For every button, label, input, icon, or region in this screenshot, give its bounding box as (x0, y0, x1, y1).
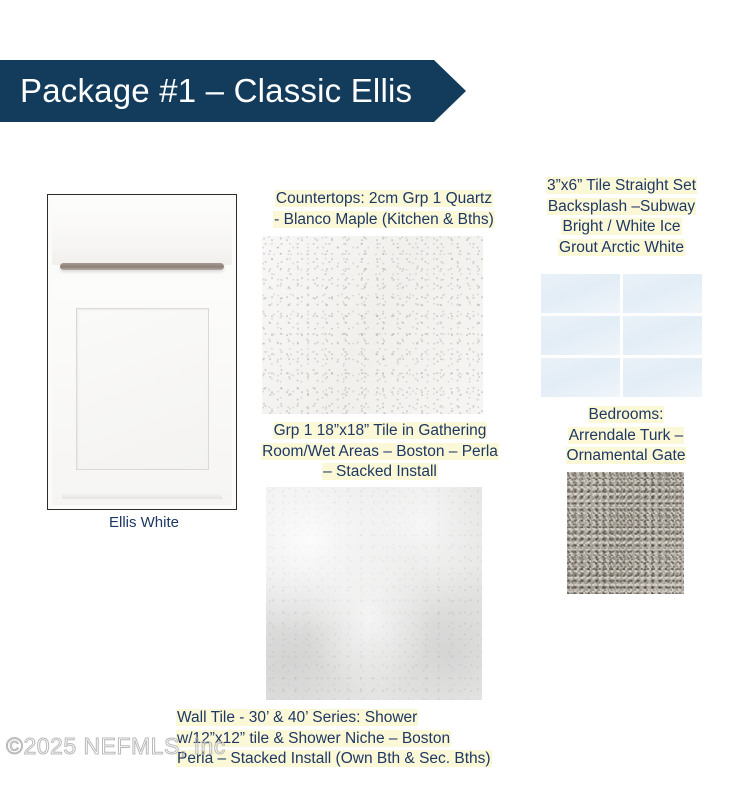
cabinet-recessed-panel (76, 308, 209, 470)
quartz-countertop-swatch (262, 236, 483, 414)
bedroom-carpet-swatch (567, 472, 684, 594)
bedrooms-caption-text: Bedrooms: Arrendale Turk – Ornamental Ga… (566, 406, 687, 464)
subway-tile (623, 274, 702, 313)
cabinet-door-swatch (47, 194, 237, 510)
floor-tile-caption-text: Grp 1 18”x18” Tile in Gathering Room/Wet… (261, 422, 499, 480)
wall-tile-caption: Wall Tile - 30’ & 40’ Series: Shower w/1… (176, 708, 546, 770)
subway-tile (623, 316, 702, 355)
cabinet-drawer-face (52, 199, 232, 265)
page-title: Package #1 – Classic Ellis (20, 60, 412, 122)
subway-tile (541, 358, 620, 397)
cabinet-label: Ellis White (74, 513, 214, 532)
cabinet-bottom-shadow (62, 493, 222, 499)
subway-tile-backsplash-swatch (541, 274, 702, 397)
bedrooms-caption: Bedrooms: Arrendale Turk – Ornamental Ga… (547, 405, 705, 467)
backsplash-caption-text: 3”x6” Tile Straight Set Backsplash –Subw… (546, 177, 697, 256)
countertop-caption: Countertops: 2cm Grp 1 Quartz - Blanco M… (253, 189, 515, 230)
wall-tile-caption-text: Wall Tile - 30’ & 40’ Series: Shower w/1… (176, 709, 492, 767)
subway-tile (541, 316, 620, 355)
countertop-caption-text: Countertops: 2cm Grp 1 Quartz - Blanco M… (273, 190, 495, 228)
package-banner: Package #1 – Classic Ellis (0, 60, 466, 122)
floor-tile-caption: Grp 1 18”x18” Tile in Gathering Room/Wet… (239, 421, 521, 483)
subway-tile (541, 274, 620, 313)
cabinet-drawer-pull (60, 263, 224, 270)
floor-tile-swatch (266, 487, 482, 700)
subway-tile (623, 358, 702, 397)
backsplash-caption: 3”x6” Tile Straight Set Backsplash –Subw… (529, 176, 714, 258)
